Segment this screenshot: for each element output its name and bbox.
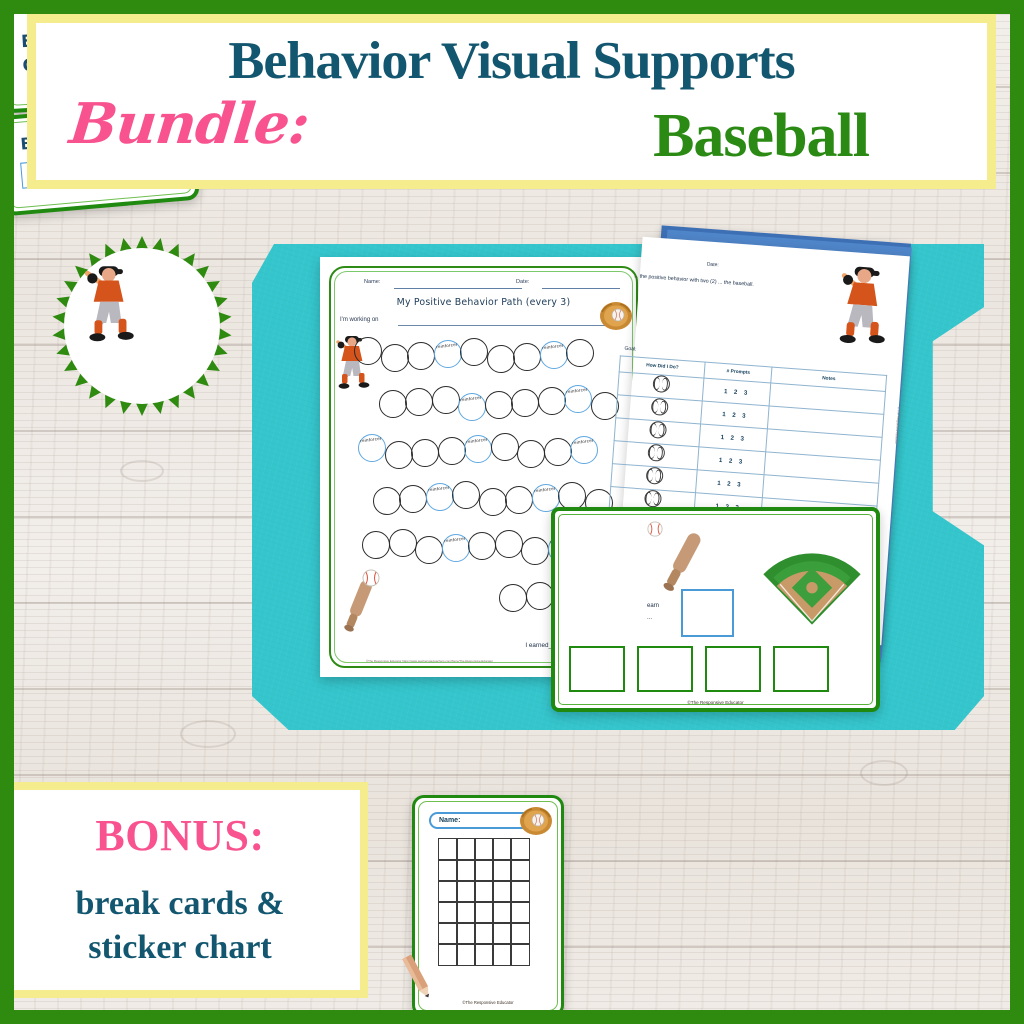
worksheet-title: My Positive Behavior Path (every 3) — [320, 297, 647, 308]
path-circle[interactable] — [487, 345, 515, 373]
sticker-cell[interactable] — [510, 838, 529, 860]
sticker-cell[interactable] — [456, 943, 475, 965]
bonus-heading: BONUS: — [0, 810, 360, 861]
sticker-cell[interactable] — [474, 859, 493, 881]
bonus-line-2: sticker chart — [88, 929, 271, 966]
page-title: Behavior Visual Supports — [26, 31, 996, 91]
worksheet-date-label: Date: — [516, 279, 529, 285]
token-earn-sublabel: ... — [647, 615, 652, 621]
path-circle[interactable] — [544, 438, 572, 466]
token-earn-label: earn — [647, 603, 659, 609]
reinforcer-circle[interactable]: reinforcer — [564, 385, 592, 413]
path-circle[interactable] — [389, 529, 417, 557]
sticker-cell[interactable] — [492, 901, 511, 923]
baseball-batter-icon — [835, 261, 895, 349]
reinforcer-circle[interactable]: reinforcer — [464, 435, 492, 463]
sticker-cell[interactable] — [474, 922, 493, 944]
reinforcer-label: reinforcer — [358, 434, 387, 463]
reinforcer-label: reinforcer — [458, 392, 487, 421]
path-circle[interactable] — [511, 389, 539, 417]
token-board[interactable]: earn ... ©The Responsive Educator — [551, 507, 880, 712]
path-circle[interactable] — [379, 390, 407, 418]
baseball-icon — [649, 421, 667, 439]
path-circle[interactable] — [385, 441, 413, 469]
sticker-cell[interactable] — [474, 838, 493, 860]
baseball-batter-badge — [48, 232, 236, 420]
worksheet-working-on-label: I'm working on — [340, 317, 379, 323]
title-banner: Behavior Visual Supports Bundle: Basebal… — [27, 14, 996, 189]
baseball-icon — [647, 444, 665, 462]
path-circle[interactable] — [517, 440, 545, 468]
baseball-icon — [645, 467, 663, 485]
reinforcer-circle[interactable]: reinforcer — [540, 341, 568, 369]
worksheet-name-label: Name: — [364, 279, 380, 285]
sticker-cell[interactable] — [438, 859, 457, 881]
baseball-glove-icon — [599, 299, 633, 331]
baseball-icon — [362, 569, 380, 587]
path-circle[interactable] — [485, 391, 513, 419]
sticker-cell[interactable] — [492, 922, 511, 944]
sticker-cell[interactable] — [510, 880, 529, 902]
worksheet-working-on-line[interactable] — [398, 325, 618, 326]
path-circle[interactable] — [407, 342, 435, 370]
sticker-cell[interactable] — [510, 901, 529, 923]
datasheet-instructions: ... the positive behavior with two (2) .… — [633, 272, 873, 298]
sticker-cell[interactable] — [438, 922, 457, 944]
bundle-label: Bundle: — [67, 91, 312, 157]
path-circle[interactable] — [513, 343, 541, 371]
sticker-cell[interactable] — [438, 880, 457, 902]
baseball-bat-icon — [655, 527, 709, 597]
sticker-cell[interactable] — [492, 859, 511, 881]
sticker-cell[interactable] — [510, 922, 529, 944]
reinforcer-label: reinforcer — [564, 385, 593, 414]
baseball-glove-icon — [519, 804, 553, 836]
reinforcer-label: reinforcer — [441, 533, 470, 562]
baseball-field-icon — [760, 533, 864, 629]
path-circle[interactable] — [432, 386, 460, 414]
bonus-line-1: break cards & — [75, 885, 284, 922]
path-circle[interactable] — [499, 584, 527, 612]
path-circle[interactable] — [495, 530, 523, 558]
path-circle[interactable] — [538, 387, 566, 415]
sticker-cell[interactable] — [492, 943, 511, 965]
sticker-cell[interactable] — [438, 943, 457, 965]
token-reward-box[interactable] — [681, 589, 734, 637]
reinforcer-circle[interactable]: reinforcer — [426, 483, 454, 511]
path-circle[interactable] — [405, 388, 433, 416]
reinforcer-label: reinforcer — [570, 436, 599, 465]
sticker-cell[interactable] — [474, 880, 493, 902]
path-circle[interactable] — [362, 531, 390, 559]
sticker-cell[interactable] — [510, 943, 529, 965]
path-circle[interactable] — [526, 582, 554, 610]
sticker-cell[interactable] — [456, 838, 475, 860]
reinforcer-label: reinforcer — [433, 340, 462, 369]
sticker-cell[interactable] — [438, 901, 457, 923]
sticker-cell[interactable] — [456, 859, 475, 881]
path-circle[interactable] — [438, 437, 466, 465]
sticker-cell[interactable] — [456, 901, 475, 923]
sticker-cell[interactable] — [438, 838, 457, 860]
path-circle[interactable] — [468, 532, 496, 560]
token-slot[interactable] — [773, 646, 829, 692]
baseball-icon — [644, 490, 662, 508]
token-board-copyright: ©The Responsive Educator — [555, 700, 876, 705]
path-circle[interactable] — [491, 433, 519, 461]
sticker-cell[interactable] — [510, 859, 529, 881]
path-circle[interactable] — [479, 488, 507, 516]
path-circle[interactable] — [411, 439, 439, 467]
sticker-cell[interactable] — [456, 880, 475, 902]
token-slot[interactable] — [637, 646, 693, 692]
sticker-cell[interactable] — [492, 838, 511, 860]
sticker-cell[interactable] — [474, 901, 493, 923]
token-slot[interactable] — [569, 646, 625, 692]
baseball-icon — [652, 375, 670, 393]
datasheet-table: How Did I Do? # Prompts Notes 1 2 31 2 3… — [609, 355, 888, 529]
reinforcer-circle[interactable]: reinforcer — [570, 436, 598, 464]
sport-label: Baseball — [653, 101, 869, 172]
token-slot[interactable] — [705, 646, 761, 692]
path-circle[interactable] — [566, 339, 594, 367]
datasheet-goal-label: Goal: — [624, 346, 637, 353]
reinforcer-label: reinforcer — [425, 483, 454, 512]
path-circle[interactable] — [381, 344, 409, 372]
pencil-icon — [398, 950, 438, 1006]
path-circle[interactable] — [399, 485, 427, 513]
sticker-cell[interactable] — [492, 880, 511, 902]
path-circle[interactable] — [415, 536, 443, 564]
reinforcer-label: reinforcer — [464, 435, 493, 464]
reinforcer-circle[interactable]: reinforcer — [434, 340, 462, 368]
worksheet-copyright: ©The Responsive Educator https://www.tea… — [366, 659, 493, 663]
sticker-grid[interactable] — [439, 839, 529, 965]
path-circle[interactable] — [505, 486, 533, 514]
reinforcer-circle[interactable]: reinforcer — [358, 434, 386, 462]
reinforcer-circle[interactable]: reinforcer — [458, 393, 486, 421]
datasheet-date-label: Date: — [707, 261, 719, 268]
path-circle[interactable] — [521, 537, 549, 565]
baseball-icon — [650, 398, 668, 416]
bonus-subtext: break cards & sticker chart — [0, 882, 360, 969]
path-circle[interactable] — [373, 487, 401, 515]
sticker-cell[interactable] — [456, 922, 475, 944]
path-circle[interactable] — [591, 392, 619, 420]
reinforcer-label: reinforcer — [539, 341, 568, 370]
sticker-cell[interactable] — [474, 943, 493, 965]
reinforcer-circle[interactable]: reinforcer — [442, 534, 470, 562]
poster-canvas: Date: ... the positive behavior with two… — [0, 0, 1024, 1024]
bonus-callout: BONUS: break cards & sticker chart — [0, 782, 368, 998]
